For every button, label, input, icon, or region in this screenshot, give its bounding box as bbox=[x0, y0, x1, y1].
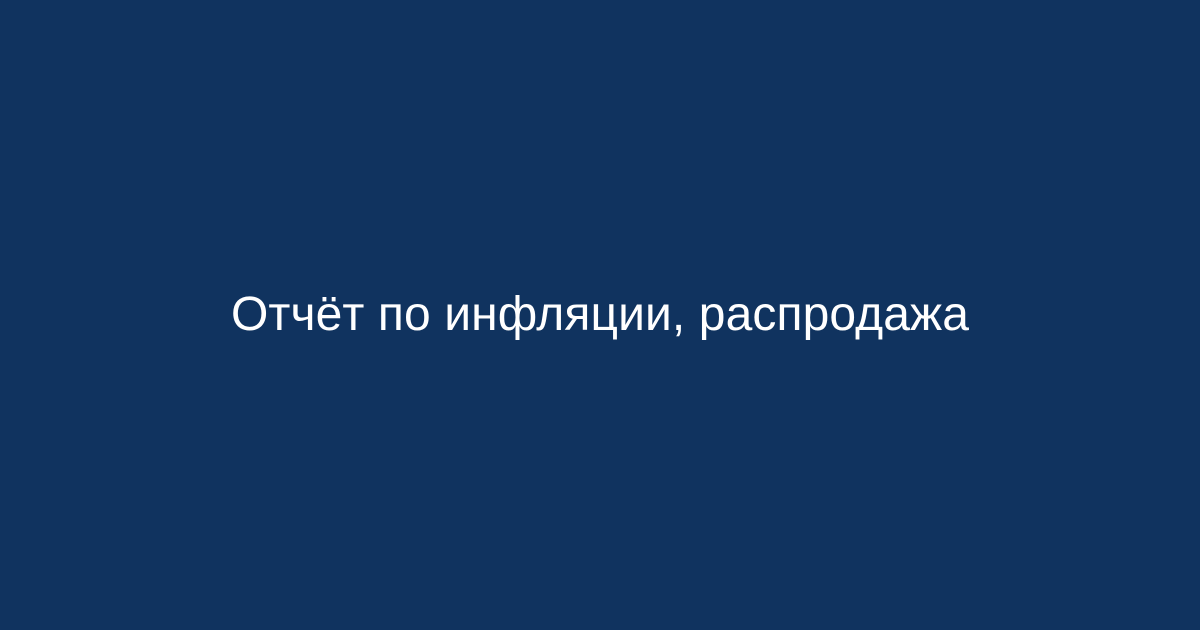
page-title: Отчёт по инфляции, распродажа bbox=[231, 285, 969, 345]
card-content: Отчёт по инфляции, распродажа bbox=[0, 285, 1200, 345]
share-card: Отчёт по инфляции, распродажа bbox=[0, 0, 1200, 630]
